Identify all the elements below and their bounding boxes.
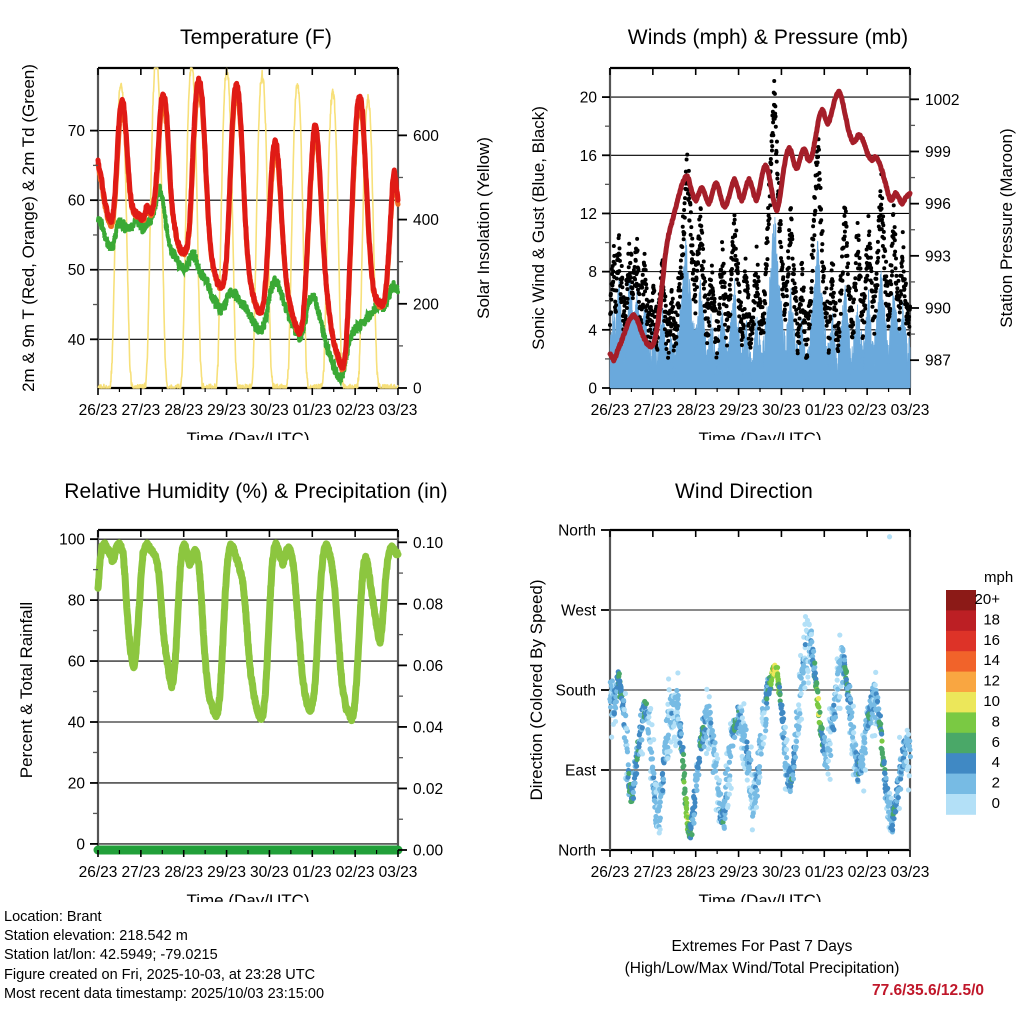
svg-text:Time (Day/UTC): Time (Day/UTC) xyxy=(698,891,821,902)
svg-text:0.04: 0.04 xyxy=(413,719,444,736)
extremes-title: Extremes For Past 7 Days xyxy=(512,936,1012,958)
svg-text:40: 40 xyxy=(68,715,86,732)
svg-text:400: 400 xyxy=(413,212,439,229)
svg-text:12: 12 xyxy=(983,673,1000,690)
humidity-plot: 0204060801000.000.020.040.060.080.1026/2… xyxy=(0,462,512,902)
chart-title-wind-direction: Wind Direction xyxy=(488,480,1000,504)
panel-temperature: Temperature (F) 40506070020040060026/232… xyxy=(0,0,512,460)
svg-text:20+: 20+ xyxy=(975,591,1001,608)
svg-text:29/23: 29/23 xyxy=(207,864,246,881)
svg-text:30/23: 30/23 xyxy=(250,864,289,881)
svg-text:02/23: 02/23 xyxy=(336,864,375,881)
svg-text:20: 20 xyxy=(68,775,86,792)
svg-text:Solar Insolation (Yellow): Solar Insolation (Yellow) xyxy=(474,137,493,319)
svg-text:North: North xyxy=(558,843,596,860)
svg-text:27/23: 27/23 xyxy=(633,402,672,419)
svg-text:999: 999 xyxy=(925,144,951,161)
svg-text:mph: mph xyxy=(984,569,1013,586)
svg-text:80: 80 xyxy=(68,593,86,610)
svg-text:30/23: 30/23 xyxy=(762,864,801,881)
most-recent-timestamp: Most recent data timestamp: 2025/10/03 2… xyxy=(4,985,324,1004)
chart-title-temperature: Temperature (F) xyxy=(0,26,512,50)
svg-text:10: 10 xyxy=(983,693,1000,710)
svg-text:996: 996 xyxy=(925,196,951,213)
svg-text:16: 16 xyxy=(983,632,1000,649)
panel-winds: Winds (mph) & Pressure (mb) 048121620987… xyxy=(512,0,1024,460)
svg-text:990: 990 xyxy=(925,301,951,318)
colorbar-band-6 xyxy=(946,712,976,733)
svg-text:26/23: 26/23 xyxy=(591,864,630,881)
svg-text:0: 0 xyxy=(76,836,85,853)
colorbar-band-10 xyxy=(946,794,976,815)
svg-text:0: 0 xyxy=(992,795,1000,812)
wind-direction-plot: NorthWestSouthEastNorth26/2327/2328/2329… xyxy=(512,462,1024,902)
svg-text:Time (Day/UTC): Time (Day/UTC) xyxy=(186,429,309,440)
svg-text:12: 12 xyxy=(580,206,597,223)
chart-title-winds: Winds (mph) & Pressure (mb) xyxy=(512,26,1024,50)
svg-text:26/23: 26/23 xyxy=(79,864,118,881)
panel-wind-direction: Wind Direction NorthWestSouthEastNorth26… xyxy=(512,462,1024,912)
svg-text:South: South xyxy=(555,683,596,700)
svg-text:29/23: 29/23 xyxy=(719,402,758,419)
svg-text:0: 0 xyxy=(588,381,597,398)
svg-text:28/23: 28/23 xyxy=(676,864,715,881)
colorbar-band-3 xyxy=(946,651,976,672)
svg-text:28/23: 28/23 xyxy=(164,864,203,881)
svg-text:0.02: 0.02 xyxy=(413,781,443,798)
colorbar-band-4 xyxy=(946,672,976,693)
svg-text:Direction (Colored By Speed): Direction (Colored By Speed) xyxy=(527,579,546,800)
svg-text:01/23: 01/23 xyxy=(293,402,332,419)
svg-text:02/23: 02/23 xyxy=(848,864,887,881)
svg-text:03/23: 03/23 xyxy=(891,864,930,881)
svg-text:8: 8 xyxy=(992,713,1000,730)
colorbar-band-0 xyxy=(946,590,976,611)
svg-text:4: 4 xyxy=(588,322,597,339)
svg-text:03/23: 03/23 xyxy=(379,864,418,881)
svg-text:28/23: 28/23 xyxy=(676,402,715,419)
svg-text:2: 2 xyxy=(992,775,1000,792)
svg-text:27/23: 27/23 xyxy=(121,402,160,419)
chart-title-humidity: Relative Humidity (%) & Precipitation (i… xyxy=(0,480,512,504)
figure-created: Figure created on Fri, 2025-10-03, at 23… xyxy=(4,966,324,985)
colorbar-band-8 xyxy=(946,753,976,774)
svg-text:27/23: 27/23 xyxy=(633,864,672,881)
extremes-values: 77.6/35.6/12.5/0 xyxy=(512,980,1012,1002)
station-elevation: Station elevation: 218.542 m xyxy=(4,927,324,946)
svg-text:4: 4 xyxy=(992,754,1000,771)
svg-text:0.10: 0.10 xyxy=(413,535,444,552)
svg-text:Time (Day/UTC): Time (Day/UTC) xyxy=(698,429,821,440)
svg-text:East: East xyxy=(565,763,597,780)
svg-text:27/23: 27/23 xyxy=(121,864,160,881)
station-info: Location: Brant Station elevation: 218.5… xyxy=(4,908,324,1004)
svg-text:26/23: 26/23 xyxy=(591,402,630,419)
temperature-plot: 40506070020040060026/2327/2328/2329/2330… xyxy=(0,0,512,440)
svg-text:29/23: 29/23 xyxy=(207,402,246,419)
svg-text:Percent & Total Rainfall: Percent & Total Rainfall xyxy=(17,602,36,778)
svg-text:60: 60 xyxy=(68,654,86,671)
svg-text:01/23: 01/23 xyxy=(805,402,844,419)
svg-text:28/23: 28/23 xyxy=(164,402,203,419)
svg-text:02/23: 02/23 xyxy=(336,402,375,419)
colorbar-band-9 xyxy=(946,774,976,795)
svg-text:02/23: 02/23 xyxy=(848,402,887,419)
svg-text:1002: 1002 xyxy=(925,92,959,109)
svg-text:6: 6 xyxy=(992,734,1000,751)
svg-text:14: 14 xyxy=(983,652,1000,669)
svg-text:100: 100 xyxy=(59,532,85,549)
svg-text:60: 60 xyxy=(68,193,86,210)
svg-text:30/23: 30/23 xyxy=(762,402,801,419)
winds-plot: 048121620987990993996999100226/2327/2328… xyxy=(512,0,1024,440)
svg-text:18: 18 xyxy=(983,611,1000,628)
svg-text:01/23: 01/23 xyxy=(805,864,844,881)
panel-humidity: Relative Humidity (%) & Precipitation (i… xyxy=(0,462,512,912)
svg-text:03/23: 03/23 xyxy=(379,402,418,419)
svg-text:0.00: 0.00 xyxy=(413,843,444,860)
svg-text:70: 70 xyxy=(68,123,86,140)
colorbar-band-7 xyxy=(946,733,976,754)
svg-text:West: West xyxy=(561,603,597,620)
svg-text:26/23: 26/23 xyxy=(79,402,118,419)
svg-text:0.08: 0.08 xyxy=(413,596,443,613)
svg-text:50: 50 xyxy=(68,262,86,279)
svg-text:Time (Day/UTC): Time (Day/UTC) xyxy=(186,891,309,902)
svg-text:8: 8 xyxy=(588,264,597,281)
svg-text:Station Pressure (Maroon): Station Pressure (Maroon) xyxy=(997,128,1016,327)
svg-text:2m & 9m T (Red, Orange) & 2m T: 2m & 9m T (Red, Orange) & 2m Td (Green) xyxy=(19,64,38,392)
svg-text:987: 987 xyxy=(925,353,951,370)
svg-text:20: 20 xyxy=(580,90,598,107)
svg-text:01/23: 01/23 xyxy=(293,864,332,881)
extremes-summary: Extremes For Past 7 Days (High/Low/Max W… xyxy=(512,936,1012,1002)
svg-text:0.06: 0.06 xyxy=(413,658,443,675)
svg-text:29/23: 29/23 xyxy=(719,864,758,881)
svg-text:993: 993 xyxy=(925,248,951,265)
colorbar-band-1 xyxy=(946,610,976,631)
svg-text:30/23: 30/23 xyxy=(250,402,289,419)
svg-text:40: 40 xyxy=(68,332,86,349)
svg-text:600: 600 xyxy=(413,128,439,145)
station-location: Location: Brant xyxy=(4,908,324,927)
svg-text:03/23: 03/23 xyxy=(891,402,930,419)
station-latlon: Station lat/lon: 42.5949; -79.0215 xyxy=(4,946,324,965)
extremes-subtitle: (High/Low/Max Wind/Total Precipitation) xyxy=(512,958,1012,980)
colorbar-band-5 xyxy=(946,692,976,713)
svg-text:Sonic Wind & Gust (Blue, Black: Sonic Wind & Gust (Blue, Black) xyxy=(529,106,548,350)
svg-text:200: 200 xyxy=(413,296,439,313)
colorbar-band-2 xyxy=(946,631,976,652)
svg-text:North: North xyxy=(558,523,596,540)
svg-text:0: 0 xyxy=(413,381,422,398)
svg-text:16: 16 xyxy=(580,148,597,165)
